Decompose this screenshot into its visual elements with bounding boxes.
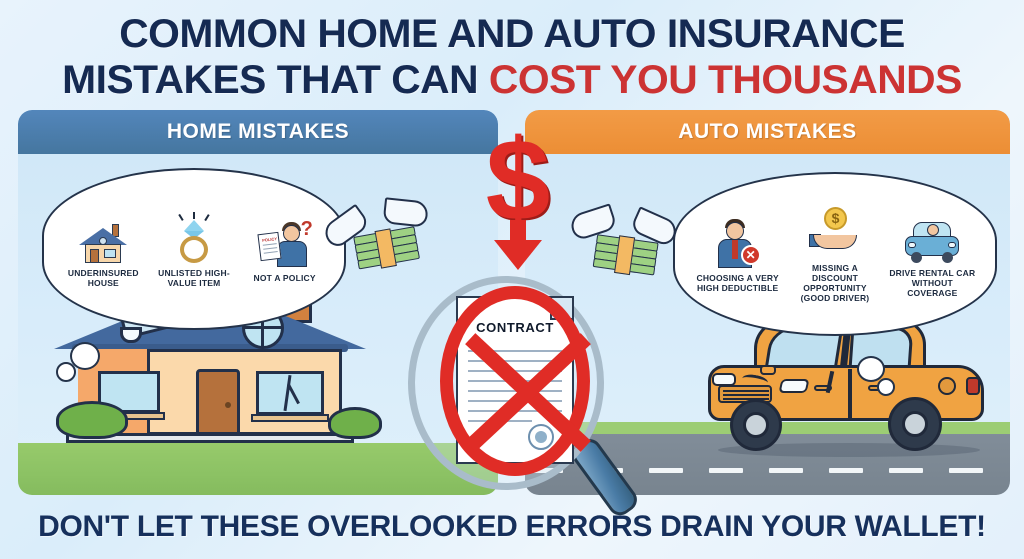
title-line-2: MISTAKES THAT CAN COST YOU THOUSANDS <box>0 60 1024 100</box>
page-title: COMMON HOME AND AUTO INSURANCE MISTAKES … <box>0 14 1024 100</box>
bush-left <box>56 401 128 439</box>
reject-x-icon: ✕ <box>741 245 761 265</box>
title-line-1: COMMON HOME AND AUTO INSURANCE <box>0 14 1024 54</box>
grass-ground <box>18 443 498 495</box>
lane-markings <box>525 468 1010 473</box>
fuel-cap <box>938 377 956 395</box>
question-mark-icon: ? <box>301 219 313 239</box>
coin-symbol: $ <box>824 207 847 230</box>
home-mistake-caption-1: UNDERINSURED HOUSE <box>60 268 146 288</box>
taillight <box>966 377 980 395</box>
title-line-2-highlight: COST YOU THOUSANDS <box>489 58 962 102</box>
home-mistakes-panel: UNDERINSURED HOUSE UNLISTED HIGH-VALUE I… <box>18 110 498 495</box>
diamond-ring-icon <box>151 210 237 264</box>
thought-puff-small <box>877 378 895 396</box>
auto-mistake-caption-1: CHOOSING A VERY HIGH DEDUCTIBLE <box>695 273 781 293</box>
auto-mistake-item-1: ✕ CHOOSING A VERY HIGH DEDUCTIBLE <box>695 215 781 293</box>
auto-mistake-item-3: DRIVE RENTAL CAR WITHOUT COVERAGE <box>889 210 975 298</box>
auto-mistake-caption-3: DRIVE RENTAL CAR WITHOUT COVERAGE <box>889 268 975 298</box>
auto-mistakes-banner-label: AUTO MISTAKES <box>678 120 856 144</box>
hand-with-coin-icon: $ <box>792 205 878 259</box>
right-window-sill <box>251 414 329 422</box>
home-mistake-item-3: ? POLICY NOT A POLICY <box>242 215 328 283</box>
auto-mistakes-panel: ✕ CHOOSING A VERY HIGH DEDUCTIBLE $ MISS… <box>525 110 1010 495</box>
infographic-canvas: COMMON HOME AND AUTO INSURANCE MISTAKES … <box>0 0 1024 559</box>
auto-mistake-caption-2: MISSING A DISCOUNT OPPORTUNITY (GOOD DRI… <box>792 263 878 303</box>
thought-puff-medium <box>857 356 885 382</box>
auto-mistakes-banner: AUTO MISTAKES <box>525 110 1010 154</box>
house-icon <box>60 210 146 264</box>
door-knob <box>225 402 231 408</box>
door-seam <box>848 369 852 419</box>
policy-label: POLICY <box>262 236 277 243</box>
down-arrow-stem <box>510 220 526 246</box>
home-mistakes-banner-label: HOME MISTAKES <box>167 120 349 144</box>
front-door <box>196 369 240 435</box>
footer-text: DON'T LET THESE OVERLOOKED ERRORS DRAIN … <box>38 510 986 543</box>
side-mirror <box>760 365 776 375</box>
headlight-right <box>779 379 810 393</box>
home-mistake-caption-3: NOT A POLICY <box>242 273 328 283</box>
confused-person-with-policy-icon: ? POLICY <box>242 215 328 269</box>
auto-thought-bubble: ✕ CHOOSING A VERY HIGH DEDUCTIBLE $ MISS… <box>673 172 997 336</box>
title-line-2-dark: MISTAKES THAT CAN <box>62 58 489 102</box>
home-thought-bubble: UNDERINSURED HOUSE UNLISTED HIGH-VALUE I… <box>42 168 346 330</box>
car-with-driver-icon <box>889 210 975 264</box>
home-mistake-item-1: UNDERINSURED HOUSE <box>60 210 146 288</box>
bush-right <box>328 407 382 439</box>
home-mistakes-banner: HOME MISTAKES <box>18 110 498 154</box>
thought-puff-medium <box>70 342 100 370</box>
rejected-executive-icon: ✕ <box>695 215 781 269</box>
auto-mistake-item-2: $ MISSING A DISCOUNT OPPORTUNITY (GOOD D… <box>792 205 878 303</box>
headlight-left <box>712 373 736 386</box>
home-mistake-item-2: UNLISTED HIGH-VALUE ITEM <box>151 210 237 288</box>
rear-hubcap <box>902 411 928 437</box>
front-hubcap <box>743 412 769 438</box>
footer-callout: DON'T LET THESE OVERLOOKED ERRORS DRAIN … <box>0 510 1024 544</box>
home-mistake-caption-2: UNLISTED HIGH-VALUE ITEM <box>151 268 237 288</box>
